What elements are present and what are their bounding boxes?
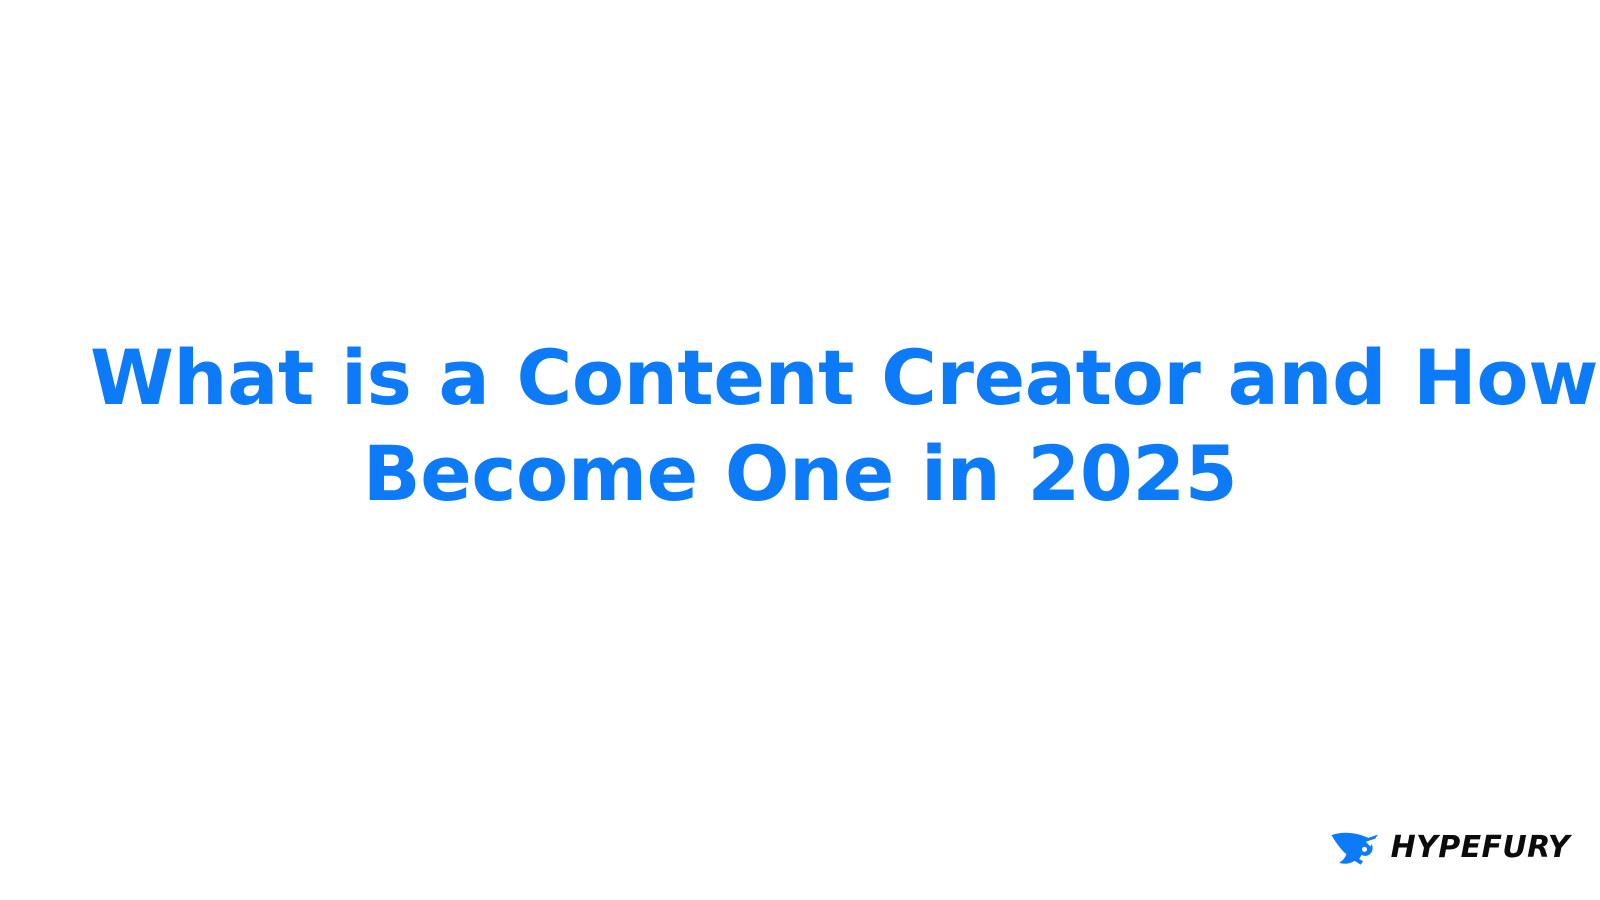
- hypefury-wordmark: HYPEFURY: [1391, 833, 1570, 863]
- headline-block: What is a Content Creator and How to Bec…: [0, 330, 1600, 522]
- title-card-slide: What is a Content Creator and How to Bec…: [0, 0, 1600, 900]
- page-title-line-1: What is a Content Creator and How to: [90, 330, 1510, 426]
- page-title-line-2: Become One in 2025: [90, 426, 1510, 522]
- page-title: What is a Content Creator and How to Bec…: [90, 330, 1510, 522]
- hypefury-bird-icon: [1329, 826, 1379, 868]
- hypefury-logo: HYPEFURY: [1329, 824, 1570, 870]
